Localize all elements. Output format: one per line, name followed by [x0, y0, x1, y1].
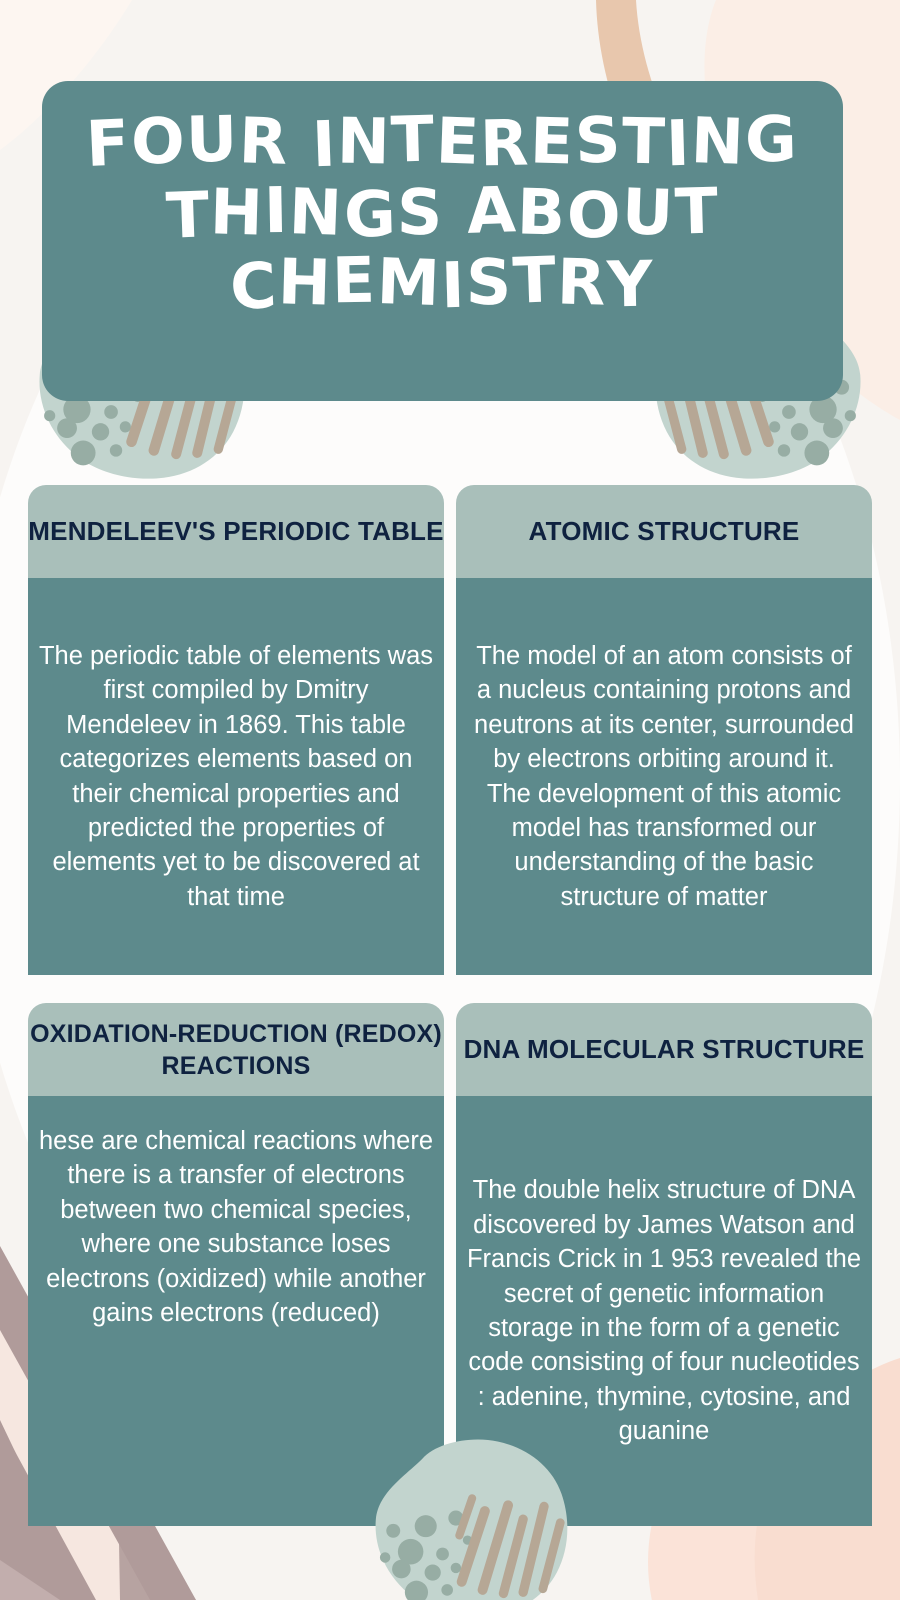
fact-card-atomic-structure: ATOMIC STRUCTURE The model of an atom co…: [456, 485, 872, 975]
fact-card-dna-molecular-structure: DNA MOLECULAR STRUCTURE The double helix…: [456, 1003, 872, 1526]
card-header-mendeleevs-periodic-table: MENDELEEV'S PERIODIC TABLE: [28, 485, 444, 578]
card-body-text: hese are chemical reactions where there …: [36, 1124, 436, 1331]
card-body-text: The double helix structure of DNA discov…: [464, 1173, 864, 1448]
card-body-mendeleevs-periodic-table: The periodic table of elements was first…: [28, 578, 444, 975]
card-body-dna-molecular-structure: The double helix structure of DNA discov…: [456, 1096, 872, 1526]
poster-title-banner: FOUR INTERESTING THINGS ABOUT CHEMISTRY: [42, 81, 843, 401]
card-body-atomic-structure: The model of an atom consists of a nucle…: [456, 578, 872, 975]
fact-card-oxidation-reduction-redox-reactions: OXIDATION-REDUCTION (REDOX) REACTIONS he…: [28, 1003, 444, 1526]
card-header-text: MENDELEEV'S PERIODIC TABLE: [28, 515, 443, 548]
card-body-oxidation-reduction-redox-reactions: hese are chemical reactions where there …: [28, 1096, 444, 1526]
card-header-dna-molecular-structure: DNA MOLECULAR STRUCTURE: [456, 1003, 872, 1096]
poster-title-line-3: CHEMISTRY: [76, 254, 809, 313]
card-header-text: OXIDATION-REDUCTION (REDOX) REACTIONS: [28, 1018, 444, 1082]
fact-card-mendeleevs-periodic-table: MENDELEEV'S PERIODIC TABLE The periodic …: [28, 485, 444, 975]
card-body-text: The model of an atom consists of a nucle…: [468, 639, 860, 914]
card-header-text: DNA MOLECULAR STRUCTURE: [464, 1033, 865, 1066]
card-header-text: ATOMIC STRUCTURE: [529, 515, 800, 548]
card-header-oxidation-reduction-redox-reactions: OXIDATION-REDUCTION (REDOX) REACTIONS: [28, 1003, 444, 1096]
card-body-text: The periodic table of elements was first…: [38, 639, 434, 914]
poster-title-line-2: THINGS ABOUT: [76, 184, 809, 243]
poster-title-line-1: FOUR INTERESTING: [76, 113, 809, 172]
card-header-atomic-structure: ATOMIC STRUCTURE: [456, 485, 872, 578]
